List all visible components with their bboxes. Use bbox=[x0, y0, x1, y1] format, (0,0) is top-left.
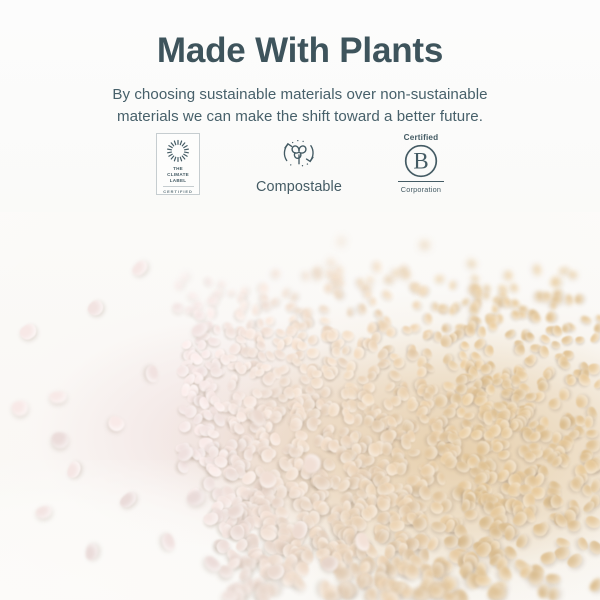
climate-label-box: THE CLIMATE LABEL CERTIFIED bbox=[156, 133, 200, 195]
climate-label-line-3: LABEL bbox=[170, 178, 187, 183]
b-corp-corporation-text: Corporation bbox=[401, 185, 441, 194]
text-block: Made With Plants By choosing sustainable… bbox=[0, 0, 600, 127]
b-corp-divider bbox=[398, 181, 444, 182]
b-corp-certified-text: Certified bbox=[404, 133, 439, 142]
climate-label-text: THE CLIMATE LABEL bbox=[167, 166, 189, 184]
subtitle-line-2: materials we can make the shift toward a… bbox=[58, 106, 542, 127]
compostable-label: Compostable bbox=[256, 179, 342, 195]
pellet-photo bbox=[0, 212, 600, 600]
promo-graphic: Made With Plants By choosing sustainable… bbox=[0, 0, 600, 600]
compostable-clover-arrows-icon bbox=[276, 133, 322, 173]
b-corp-circle-icon: B bbox=[403, 143, 439, 179]
subtitle-line-1: By choosing sustainable materials over n… bbox=[58, 84, 542, 105]
certification-badges: THE CLIMATE LABEL CERTIFIED bbox=[0, 133, 600, 211]
page-subtitle: By choosing sustainable materials over n… bbox=[0, 84, 600, 127]
climate-label-certified: CERTIFIED bbox=[163, 189, 193, 194]
pellet-field bbox=[0, 212, 600, 600]
badge-compostable: Compostable bbox=[256, 133, 342, 195]
page-title: Made With Plants bbox=[0, 30, 600, 71]
badge-climate-label: THE CLIMATE LABEL CERTIFIED bbox=[156, 133, 200, 195]
climate-label-divider bbox=[163, 186, 194, 187]
svg-text:B: B bbox=[413, 149, 428, 174]
sunburst-icon bbox=[165, 139, 191, 163]
climate-label-line-2: CLIMATE bbox=[167, 172, 189, 177]
climate-label-line-1: THE bbox=[173, 166, 183, 171]
badge-b-corp: Certified B Corporation bbox=[398, 133, 444, 194]
